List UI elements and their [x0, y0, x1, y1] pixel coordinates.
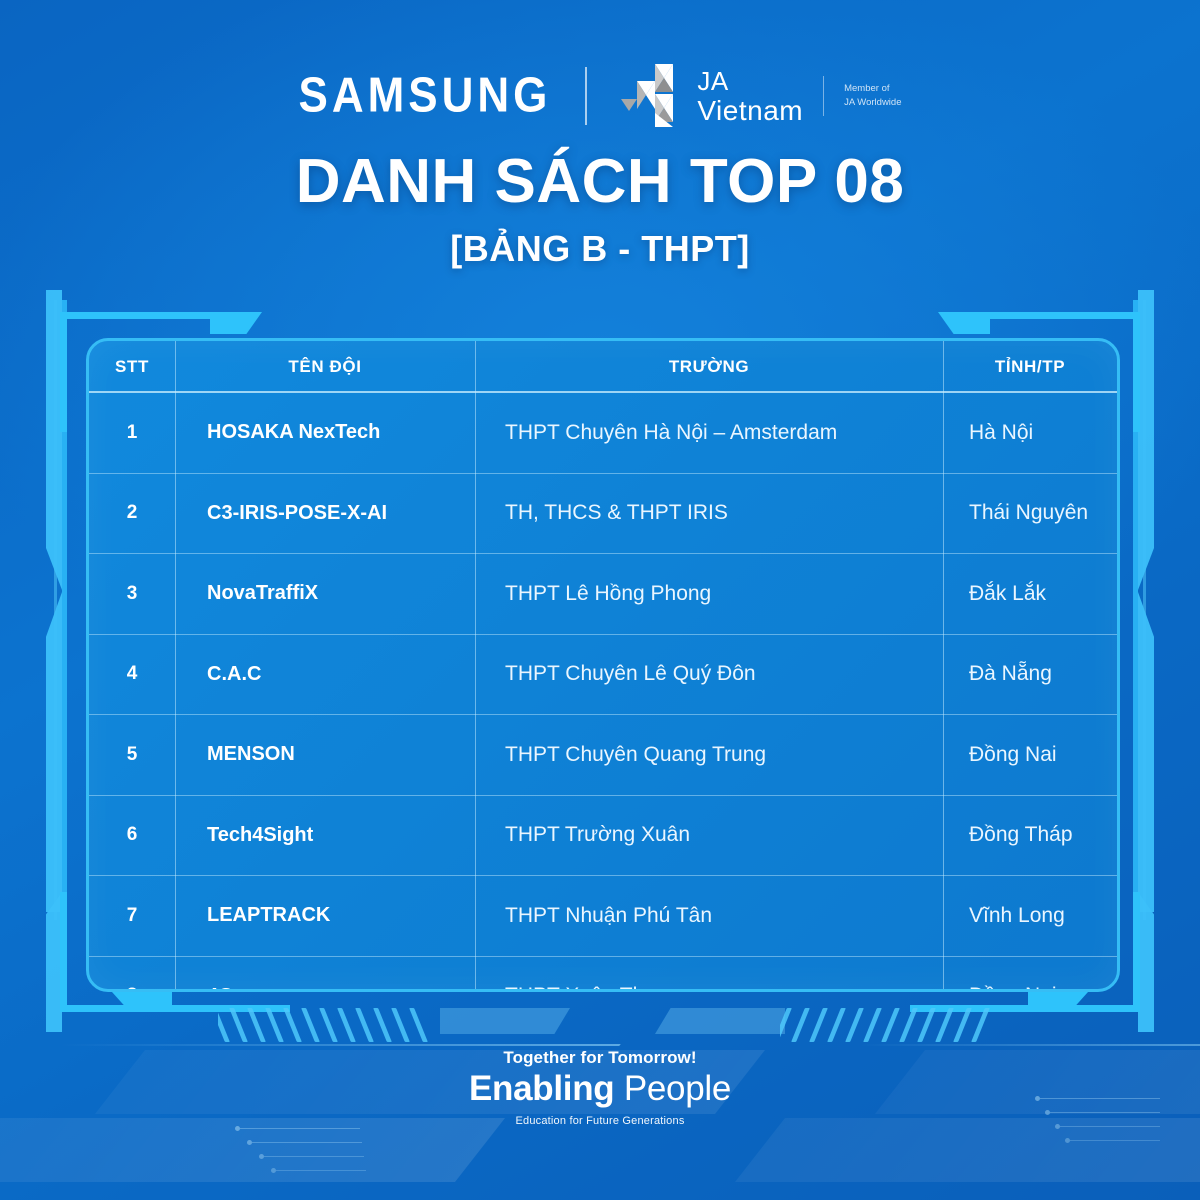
cell-truong: THPT Nhuận Phú Tân: [475, 876, 943, 957]
cell-truong: THPT Lê Hồng Phong: [475, 554, 943, 635]
cell-stt: 3: [89, 554, 175, 635]
footer-brand-bold: Enabling: [469, 1069, 614, 1108]
column-header-stt: STT: [89, 341, 175, 392]
cell-ten-doi: HOSAKA NexTech: [175, 392, 475, 473]
cell-tinh-tp: Đà Nẵng: [943, 634, 1117, 715]
corner-bracket-bottom-right-v: [1133, 892, 1140, 1012]
cell-truong: TH, THCS & THPT IRIS: [475, 473, 943, 554]
table-row: 1 HOSAKA NexTech THPT Chuyên Hà Nội – Am…: [89, 392, 1117, 473]
cell-ten-doi: C.A.C: [175, 634, 475, 715]
samsung-logo: SAMSUNG: [298, 68, 551, 124]
poster-canvas: SAMSUNG JA Vietnam: [0, 0, 1200, 1200]
ja-logo-line2: Vietnam: [697, 97, 803, 125]
table-row: 7 LEAPTRACK THPT Nhuận Phú Tân Vĩnh Long: [89, 876, 1117, 957]
member-line2: JA Worldwide: [844, 96, 901, 110]
cell-tinh-tp: Đồng Nai: [943, 956, 1117, 992]
member-divider: [823, 76, 824, 116]
cell-ten-doi: C3-IRIS-POSE-X-AI: [175, 473, 475, 554]
corner-bracket-top-left-v: [60, 312, 67, 432]
cell-tinh-tp: Đồng Nai: [943, 715, 1117, 796]
cell-truong: THPT Trường Xuân: [475, 795, 943, 876]
table-row: 4 C.A.C THPT Chuyên Lê Quý Đôn Đà Nẵng: [89, 634, 1117, 715]
member-line1: Member of: [844, 82, 901, 96]
member-of-badge: Member of JA Worldwide: [844, 82, 901, 110]
brand-header: SAMSUNG JA Vietnam: [0, 60, 1200, 132]
cell-tinh-tp: Thái Nguyên: [943, 473, 1117, 554]
cell-tinh-tp: Đồng Tháp: [943, 795, 1117, 876]
cell-tinh-tp: Vĩnh Long: [943, 876, 1117, 957]
footer-sub: Education for Future Generations: [0, 1115, 1200, 1127]
table-row: 5 MENSON THPT Chuyên Quang Trung Đồng Na…: [89, 715, 1117, 796]
column-header-tinh-tp: TỈNH/TP: [943, 341, 1117, 392]
cell-tinh-tp: Đắk Lắk: [943, 554, 1117, 635]
footer-branding: Together for Tomorrow! Enabling People E…: [0, 1048, 1200, 1127]
table-row: 2 C3-IRIS-POSE-X-AI TH, THCS & THPT IRIS…: [89, 473, 1117, 554]
trapezoid-right: [655, 1008, 785, 1034]
page-title: DANH SÁCH TOP 08: [0, 146, 1200, 217]
footer-tagline: Together for Tomorrow!: [0, 1048, 1200, 1068]
footer-brand-light: People: [624, 1069, 731, 1108]
ja-vietnam-logo: JA Vietnam: [621, 63, 803, 129]
corner-notch-top-right: [938, 312, 990, 334]
table-header-row: STT TÊN ĐỘI TRƯỜNG TỈNH/TP: [89, 341, 1117, 392]
ja-logo-line1: JA: [697, 68, 803, 94]
corner-bracket-top-right-v: [1133, 312, 1140, 432]
table-row: 3 NovaTraffiX THPT Lê Hồng Phong Đắk Lắk: [89, 554, 1117, 635]
cell-ten-doi: NovaTraffiX: [175, 554, 475, 635]
cell-stt: 7: [89, 876, 175, 957]
ranking-table-panel: STT TÊN ĐỘI TRƯỜNG TỈNH/TP 1 HOSAKA NexT…: [86, 338, 1120, 992]
ja-triangles-icon: [621, 63, 683, 129]
corner-bracket-bottom-left-v: [60, 892, 67, 1012]
cell-ten-doi: MENSON: [175, 715, 475, 796]
table-row: 6 Tech4Sight THPT Trường Xuân Đồng Tháp: [89, 795, 1117, 876]
cell-truong: THPT Xuân Thọ: [475, 956, 943, 992]
cell-ten-doi: LEAPTRACK: [175, 876, 475, 957]
corner-notch-top-left: [210, 312, 262, 334]
hash-stripes-left: [218, 1008, 438, 1042]
cell-stt: 5: [89, 715, 175, 796]
cell-truong: THPT Chuyên Quang Trung: [475, 715, 943, 796]
cell-ten-doi: Tech4Sight: [175, 795, 475, 876]
table-body: 1 HOSAKA NexTech THPT Chuyên Hà Nội – Am…: [89, 392, 1117, 992]
ranking-table: STT TÊN ĐỘI TRƯỜNG TỈNH/TP 1 HOSAKA NexT…: [89, 341, 1117, 992]
trapezoid-left: [440, 1008, 570, 1034]
hash-stripes-right: [780, 1008, 1000, 1042]
cell-stt: 1: [89, 392, 175, 473]
cell-stt: 4: [89, 634, 175, 715]
cell-stt: 8: [89, 956, 175, 992]
cell-tinh-tp: Hà Nội: [943, 392, 1117, 473]
cell-truong: THPT Chuyên Lê Quý Đôn: [475, 634, 943, 715]
table-row: 8 4G THPT Xuân Thọ Đồng Nai: [89, 956, 1117, 992]
column-header-truong: TRƯỜNG: [475, 341, 943, 392]
table-frame: STT TÊN ĐỘI TRƯỜNG TỈNH/TP 1 HOSAKA NexT…: [60, 312, 1140, 1012]
cell-stt: 2: [89, 473, 175, 554]
cell-ten-doi: 4G: [175, 956, 475, 992]
cell-stt: 6: [89, 795, 175, 876]
column-header-ten-doi: TÊN ĐỘI: [175, 341, 475, 392]
page-subtitle: [BẢNG B - THPT]: [0, 228, 1200, 270]
footer-brand: Enabling People: [0, 1069, 1200, 1109]
header-divider: [585, 67, 587, 125]
cell-truong: THPT Chuyên Hà Nội – Amsterdam: [475, 392, 943, 473]
